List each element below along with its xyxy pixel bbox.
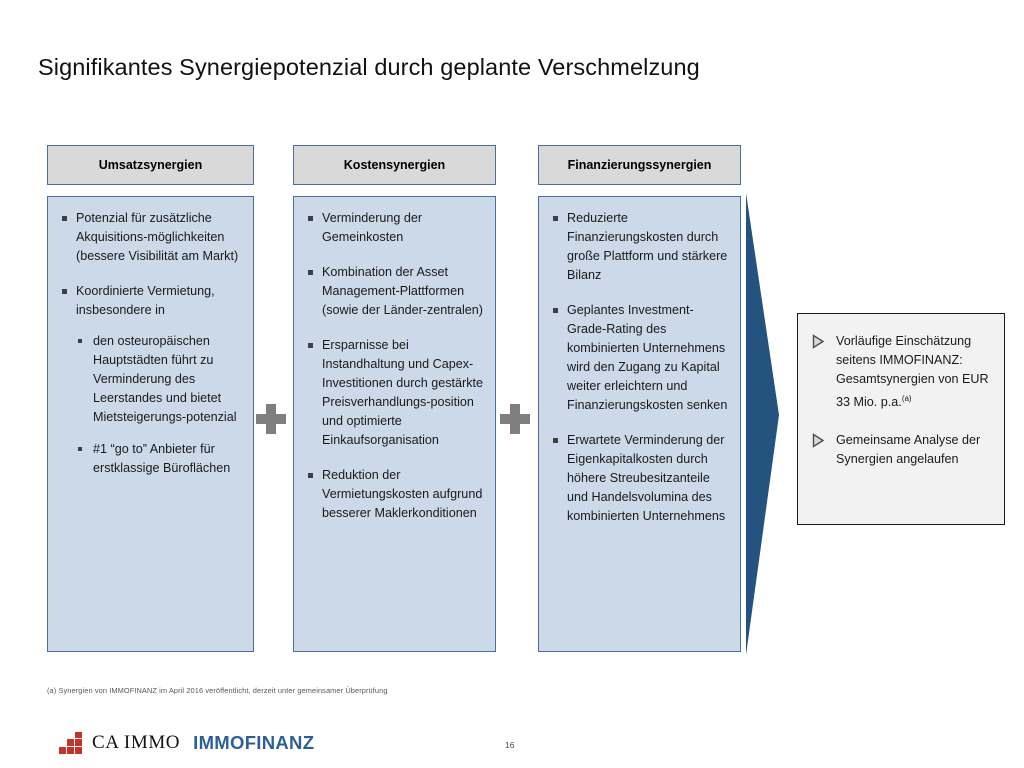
list-item: Potenzial für zusätzliche Akquisitions-m… xyxy=(56,209,243,266)
column-body-kostensynergien: Verminderung der Gemeinkosten Kombinatio… xyxy=(293,196,496,652)
sub-list-item: den osteuropäischen Hauptstädten führt z… xyxy=(76,332,243,427)
ca-immo-wordmark: CA IMMO xyxy=(92,732,180,754)
plus-bar-vertical xyxy=(510,404,520,434)
conclusion-text: Vorläufige Einschätzung seitens IMMOFINA… xyxy=(836,334,989,409)
bullet-list: Potenzial für zusätzliche Akquisitions-m… xyxy=(56,209,243,478)
bullet-text: Erwartete Verminderung der Eigenkapitalk… xyxy=(567,433,725,523)
column-body-umsatzsynergien: Potenzial für zusätzliche Akquisitions-m… xyxy=(47,196,254,652)
footer-logo: CA IMMO IMMOFINANZ xyxy=(59,729,314,757)
list-item: Geplantes Investment-Grade-Rating des ko… xyxy=(547,301,730,415)
footnote: (a) Synergien von IMMOFINANZ im April 20… xyxy=(47,686,388,695)
conclusion-footnote-marker: (a) xyxy=(902,394,912,403)
plus-icon-1 xyxy=(256,404,286,434)
bullet-text: Potenzial für zusätzliche Akquisitions-m… xyxy=(76,211,238,263)
conclusion-item: Gemeinsame Analyse der Synergien angelau… xyxy=(808,431,992,469)
plus-icon-2 xyxy=(500,404,530,434)
conclusion-text: Gemeinsame Analyse der Synergien angelau… xyxy=(836,433,980,466)
triangle-shape xyxy=(812,433,825,448)
column-header-label: Umsatzsynergien xyxy=(99,158,203,172)
list-item: Kombination der Asset Management-Plattfo… xyxy=(302,263,485,320)
bullet-text: Reduzierte Finanzierungskosten durch gro… xyxy=(567,211,727,282)
list-item: Reduzierte Finanzierungskosten durch gro… xyxy=(547,209,730,285)
bullet-text: Verminderung der Gemeinkosten xyxy=(322,211,422,244)
bullet-list: Reduzierte Finanzierungskosten durch gro… xyxy=(547,209,730,526)
list-item: Koordinierte Vermietung, insbesondere in… xyxy=(56,282,243,478)
bullet-text: Reduktion der Vermietungskosten aufgrund… xyxy=(322,468,482,520)
bullet-list: Verminderung der Gemeinkosten Kombinatio… xyxy=(302,209,485,523)
bullet-text: Kombination der Asset Management-Plattfo… xyxy=(322,265,483,317)
sub-bullet-list: den osteuropäischen Hauptstädten führt z… xyxy=(76,332,243,478)
triangle-bullet-icon xyxy=(812,433,825,448)
column-body-finanzierungssynergien: Reduzierte Finanzierungskosten durch gro… xyxy=(538,196,741,652)
column-header-kostensynergien: Kostensynergien xyxy=(293,145,496,185)
triangle-shape xyxy=(812,334,825,349)
column-header-label: Kostensynergien xyxy=(344,158,445,172)
conclusion-list: Vorläufige Einschätzung seitens IMMOFINA… xyxy=(808,332,992,469)
list-item: Verminderung der Gemeinkosten xyxy=(302,209,485,247)
conclusion-box: Vorläufige Einschätzung seitens IMMOFINA… xyxy=(797,313,1005,525)
column-header-finanzierungssynergien: Finanzierungssynergien xyxy=(538,145,741,185)
list-item: Ersparnisse bei Instandhaltung und Capex… xyxy=(302,336,485,450)
bullet-text: Ersparnisse bei Instandhaltung und Capex… xyxy=(322,338,483,447)
ca-immo-blocks-icon xyxy=(59,732,85,754)
arrow-shape xyxy=(744,193,780,655)
conclusion-arrow-icon xyxy=(744,193,780,655)
bullet-text: Koordinierte Vermietung, insbesondere in xyxy=(76,284,215,317)
column-header-umsatzsynergien: Umsatzsynergien xyxy=(47,145,254,185)
bullet-text: Geplantes Investment-Grade-Rating des ko… xyxy=(567,303,727,412)
conclusion-item: Vorläufige Einschätzung seitens IMMOFINA… xyxy=(808,332,992,412)
sub-list-item: #1 “go to” Anbieter für erstklassige Bür… xyxy=(76,440,243,478)
page-title: Signifikantes Synergiepotenzial durch ge… xyxy=(38,54,978,81)
column-header-label: Finanzierungssynergien xyxy=(568,158,712,172)
page-number: 16 xyxy=(505,740,514,750)
list-item: Erwartete Verminderung der Eigenkapitalk… xyxy=(547,431,730,526)
list-item: Reduktion der Vermietungskosten aufgrund… xyxy=(302,466,485,523)
plus-bar-vertical xyxy=(266,404,276,434)
immofinanz-wordmark: IMMOFINANZ xyxy=(193,732,314,754)
triangle-bullet-icon xyxy=(812,334,825,349)
blocks-shape xyxy=(59,732,85,754)
